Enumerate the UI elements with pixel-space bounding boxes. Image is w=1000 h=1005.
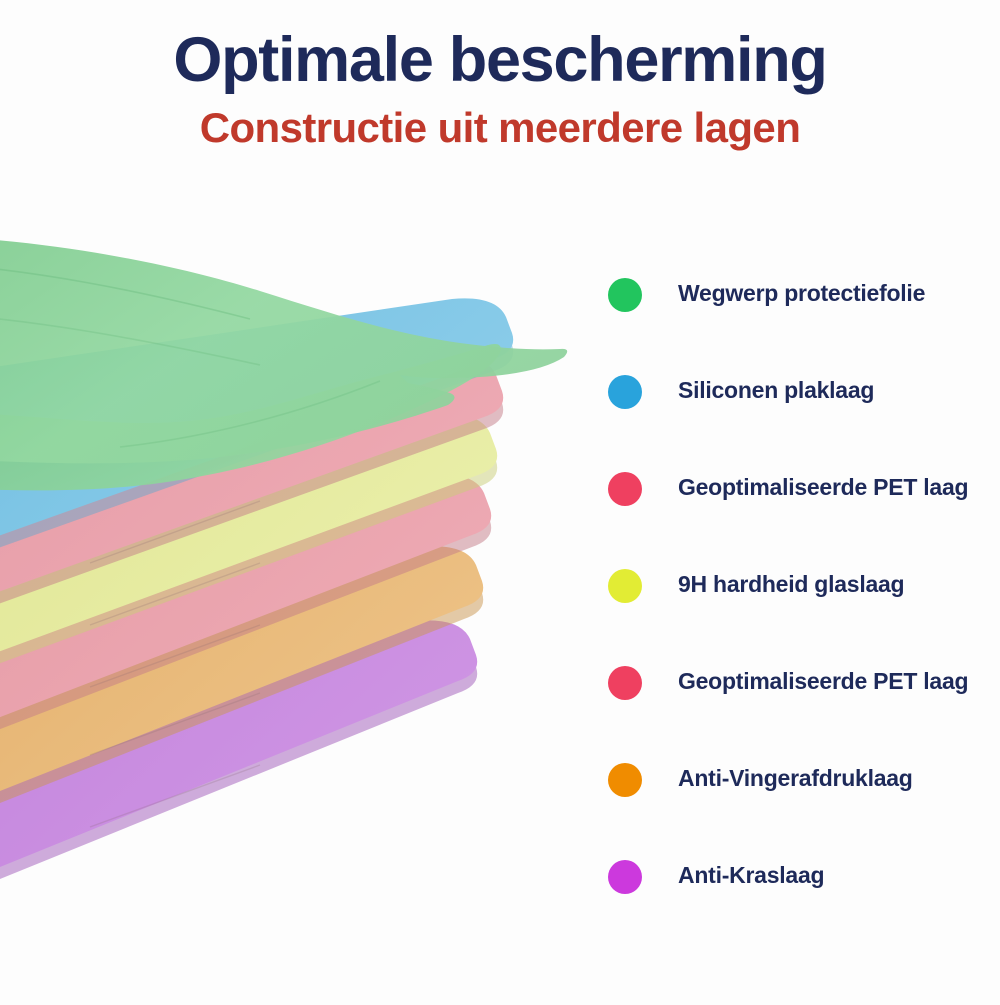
- legend-item-label: Siliconen plaklaag: [678, 377, 874, 405]
- dot-icon: [608, 278, 642, 312]
- legend-item-anti-vingerafdruklaag[interactable]: Anti-Vingerafdruklaag: [608, 747, 1000, 844]
- page-subtitle: Constructie uit meerdere lagen: [0, 106, 1000, 150]
- dot-icon: [608, 763, 642, 797]
- header: Optimale bescherming Constructie uit mee…: [0, 0, 1000, 150]
- dot-icon: [608, 860, 642, 894]
- layer-stack-svg: [0, 215, 600, 1005]
- layer-stack-illustration: [0, 215, 600, 1005]
- dot-icon: [608, 375, 642, 409]
- legend-item-geoptimaliseerde-pet-laag-onder[interactable]: Geoptimaliseerde PET laag: [608, 650, 1000, 747]
- legend-item-label: Anti-Vingerafdruklaag: [678, 765, 913, 793]
- legend-item-siliconen-plaklaag[interactable]: Siliconen plaklaag: [608, 359, 1000, 456]
- layer-legend: Wegwerp protectiefolie Siliconen plaklaa…: [608, 262, 1000, 924]
- infographic-root: Optimale bescherming Constructie uit mee…: [0, 0, 1000, 1000]
- legend-item-label: Anti-Kraslaag: [678, 862, 824, 890]
- legend-item-geoptimaliseerde-pet-laag-boven[interactable]: Geoptimaliseerde PET laag: [608, 456, 1000, 553]
- page-title: Optimale bescherming: [0, 28, 1000, 94]
- dot-icon: [608, 666, 642, 700]
- legend-item-label: 9H hardheid glaslaag: [678, 571, 904, 599]
- dot-icon: [608, 569, 642, 603]
- legend-item-label: Wegwerp protectiefolie: [678, 280, 925, 308]
- legend-item-label: Geoptimaliseerde PET laag: [678, 668, 968, 696]
- legend-item-label: Geoptimaliseerde PET laag: [678, 474, 968, 502]
- legend-item-wegwerp-protectiefolie[interactable]: Wegwerp protectiefolie: [608, 262, 1000, 359]
- dot-icon: [608, 472, 642, 506]
- legend-item-9h-hardheid-glaslaag[interactable]: 9H hardheid glaslaag: [608, 553, 1000, 650]
- legend-item-anti-kraslaag[interactable]: Anti-Kraslaag: [608, 844, 1000, 924]
